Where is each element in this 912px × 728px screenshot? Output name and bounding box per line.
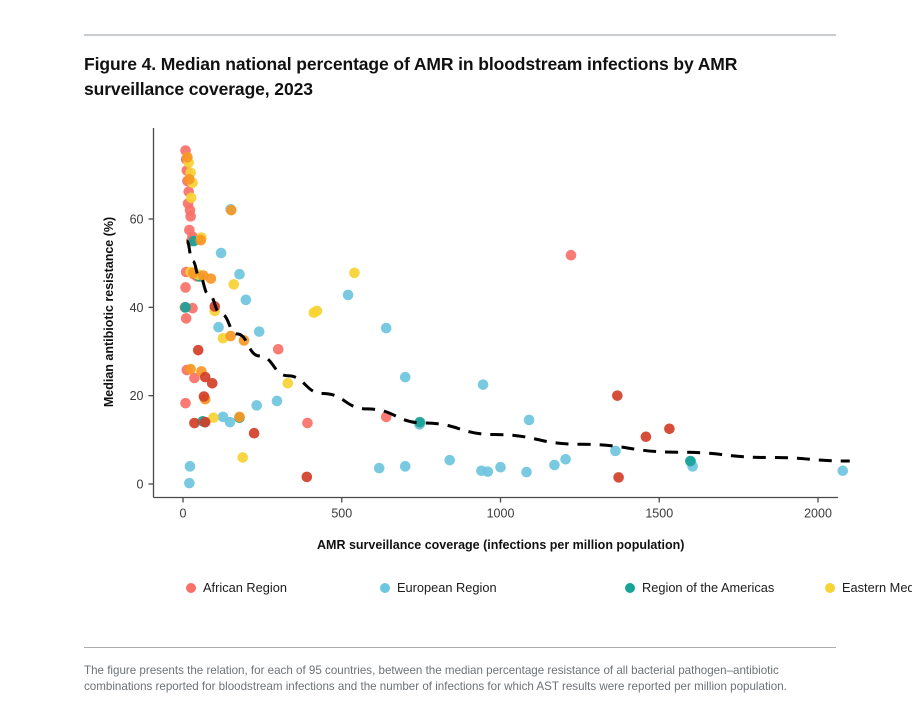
bottom-divider-rule (84, 647, 836, 648)
x-axis-tick-label: 500 (331, 507, 352, 521)
data-point (188, 268, 199, 279)
data-point (226, 205, 237, 216)
series-region-of-the-americas (180, 236, 695, 467)
data-point (185, 167, 196, 178)
legend-swatch-icon (380, 583, 390, 593)
data-point (182, 365, 193, 376)
data-point (194, 234, 205, 245)
data-point (184, 225, 195, 236)
data-point (239, 335, 250, 346)
data-point (200, 394, 211, 405)
data-point (200, 372, 211, 383)
legend-item[interactable]: European Region (380, 580, 625, 595)
series-african-region (180, 145, 577, 429)
data-point (612, 390, 623, 401)
x-axis-title: AMR surveillance coverage (infections pe… (317, 538, 684, 552)
data-point (187, 231, 198, 242)
y-axis-tick-label: 40 (130, 301, 144, 315)
data-point (381, 323, 392, 334)
data-point (186, 236, 197, 247)
data-point (234, 269, 245, 280)
data-point (566, 250, 577, 261)
figure-title: Figure 4. Median national percentage of … (84, 52, 824, 102)
legend-item[interactable]: Region of the Americas (625, 580, 825, 595)
data-point (180, 145, 191, 156)
data-point (183, 198, 194, 209)
data-point (192, 271, 203, 282)
legend-swatch-icon (186, 583, 196, 593)
data-point (273, 344, 284, 355)
data-point (400, 372, 411, 383)
data-point (312, 306, 323, 317)
y-axis-title: Median antibiotic resistance (%) (102, 217, 116, 407)
data-point (687, 461, 698, 472)
data-point (180, 302, 191, 313)
data-point (197, 416, 208, 427)
data-point (184, 478, 195, 489)
data-point (208, 412, 219, 423)
data-point (206, 273, 217, 284)
series-south-east-asia-region (182, 152, 249, 422)
legend-item[interactable]: Eastern Mediterranean Region (825, 580, 912, 595)
data-point (483, 466, 494, 477)
data-point (521, 467, 532, 478)
data-point (187, 177, 198, 188)
data-point (213, 322, 224, 333)
data-point (444, 455, 455, 466)
data-point (309, 307, 320, 318)
data-point (188, 269, 199, 280)
data-point (686, 457, 697, 468)
data-point (180, 398, 191, 409)
data-point (234, 412, 245, 423)
y-axis-tick-label: 0 (137, 478, 144, 492)
legend-item[interactable]: African Region (186, 580, 380, 595)
axes-layer (149, 128, 839, 503)
data-point (196, 366, 207, 377)
axis-labels-layer: 02040600500100015002000AMR surveillance … (102, 213, 832, 553)
data-point (414, 419, 425, 430)
data-point (199, 391, 210, 402)
data-point (194, 271, 205, 282)
x-axis-tick-label: 1500 (645, 507, 673, 521)
data-point (198, 270, 209, 281)
trend-line (187, 241, 850, 461)
data-point (302, 472, 313, 483)
data-point (196, 232, 207, 243)
data-point (200, 417, 211, 428)
data-point (187, 303, 198, 314)
data-point (188, 236, 199, 247)
data-point (185, 364, 196, 375)
data-point (209, 301, 220, 312)
data-point (613, 472, 624, 483)
legend-swatch-icon (825, 583, 835, 593)
y-axis-tick-label: 60 (130, 213, 144, 227)
data-point (193, 269, 204, 280)
data-point (641, 431, 652, 442)
series-western-pacific-region (189, 301, 675, 483)
data-point (218, 333, 229, 344)
data-point (199, 417, 210, 428)
data-point (254, 326, 265, 337)
data-point (195, 235, 206, 246)
data-point (183, 157, 194, 168)
data-point (478, 379, 489, 390)
series-eastern-mediterranean-region (183, 157, 359, 463)
scatter-plot-svg: 02040600500100015002000AMR surveillance … (0, 0, 912, 728)
x-axis-tick-label: 0 (180, 507, 187, 521)
data-point (209, 306, 220, 317)
legend-swatch-icon (625, 583, 635, 593)
data-points-layer (180, 145, 848, 488)
data-point (182, 165, 193, 176)
data-point (610, 446, 621, 457)
data-point (189, 418, 200, 429)
data-point (549, 460, 560, 471)
data-point (185, 205, 196, 216)
x-axis-tick-label: 1000 (487, 507, 515, 521)
data-point (207, 378, 218, 389)
data-point (182, 176, 193, 187)
data-point (476, 465, 487, 476)
data-point (181, 313, 192, 324)
data-point (184, 174, 195, 185)
data-point (189, 373, 200, 384)
data-point (180, 282, 191, 293)
legend-label: Region of the Americas (642, 580, 774, 595)
data-point (182, 152, 193, 163)
data-point (381, 412, 392, 423)
data-point (181, 154, 192, 165)
data-point (685, 456, 696, 467)
data-point (218, 412, 229, 423)
data-point (400, 461, 411, 472)
chart-legend: African RegionEuropean RegionRegion of t… (186, 577, 826, 598)
data-point (216, 248, 227, 259)
data-point (181, 267, 192, 278)
data-point (251, 400, 262, 411)
legend-label: European Region (397, 580, 497, 595)
data-point (282, 378, 293, 389)
data-point (524, 415, 535, 426)
trend-line-layer (187, 241, 850, 461)
data-point (225, 331, 236, 342)
data-point (249, 428, 260, 439)
data-point (229, 279, 240, 290)
data-point (186, 193, 197, 204)
data-point (237, 452, 248, 463)
series-european-region (184, 204, 848, 488)
data-point (241, 295, 252, 306)
data-point (225, 204, 236, 215)
figure-page: Figure 4. Median national percentage of … (0, 0, 912, 728)
data-point (415, 417, 426, 428)
data-point (343, 290, 354, 301)
data-point (180, 302, 191, 313)
top-divider-rule (84, 34, 836, 36)
data-point (185, 461, 196, 472)
figure-footnote: The figure presents the relation, for ea… (84, 663, 836, 696)
data-point (374, 463, 385, 474)
x-axis-tick-label: 2000 (804, 507, 832, 521)
data-point (234, 412, 245, 423)
data-point (664, 423, 675, 434)
data-point (193, 345, 204, 356)
data-point (495, 462, 506, 473)
data-point (349, 268, 360, 279)
data-point (183, 186, 194, 197)
y-axis-tick-label: 20 (130, 389, 144, 403)
data-point (185, 211, 196, 222)
data-point (414, 419, 425, 430)
data-point (225, 417, 236, 428)
data-point (560, 454, 571, 465)
data-point (272, 396, 283, 407)
scatter-plot-container: 02040600500100015002000AMR surveillance … (0, 0, 912, 728)
legend-label: Eastern Mediterranean Region (842, 580, 912, 595)
legend-label: African Region (203, 580, 287, 595)
data-point (302, 418, 313, 429)
data-point (185, 267, 196, 278)
data-point (837, 465, 848, 476)
